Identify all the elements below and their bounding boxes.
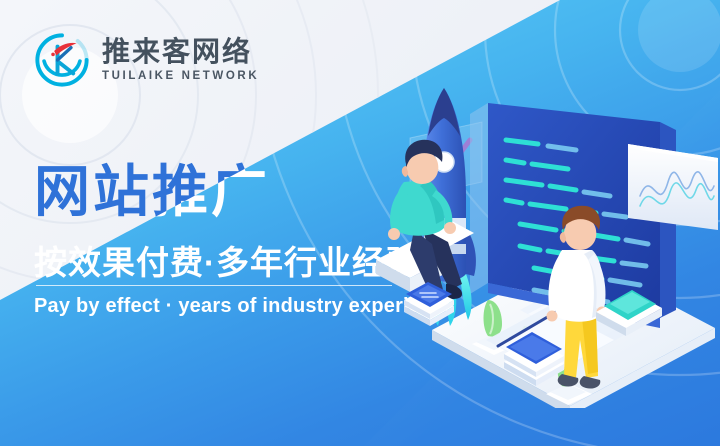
hero-subheadline: 按效果付费·多年行业经验 — [34, 236, 420, 284]
promo-banner: 推来客网络 TUILAIKE NETWORK 网站推广 网站推广 按效果付费·多… — [0, 0, 720, 446]
hero-divider — [36, 285, 392, 286]
book-stack-left — [398, 276, 460, 343]
logo-emblem-icon — [34, 32, 90, 88]
book-stack-bottom — [498, 326, 572, 395]
logo-wordmark: 推来客网络 TUILAIKE NETWORK — [102, 38, 259, 83]
logo-name-cn: 推来客网络 — [102, 38, 259, 66]
brand-logo: 推来客网络 TUILAIKE NETWORK — [34, 32, 259, 88]
logo-name-en: TUILAIKE NETWORK — [102, 71, 259, 83]
analytics-panel — [628, 144, 718, 230]
hero-headline: 网站推广 网站推广 — [34, 164, 270, 220]
